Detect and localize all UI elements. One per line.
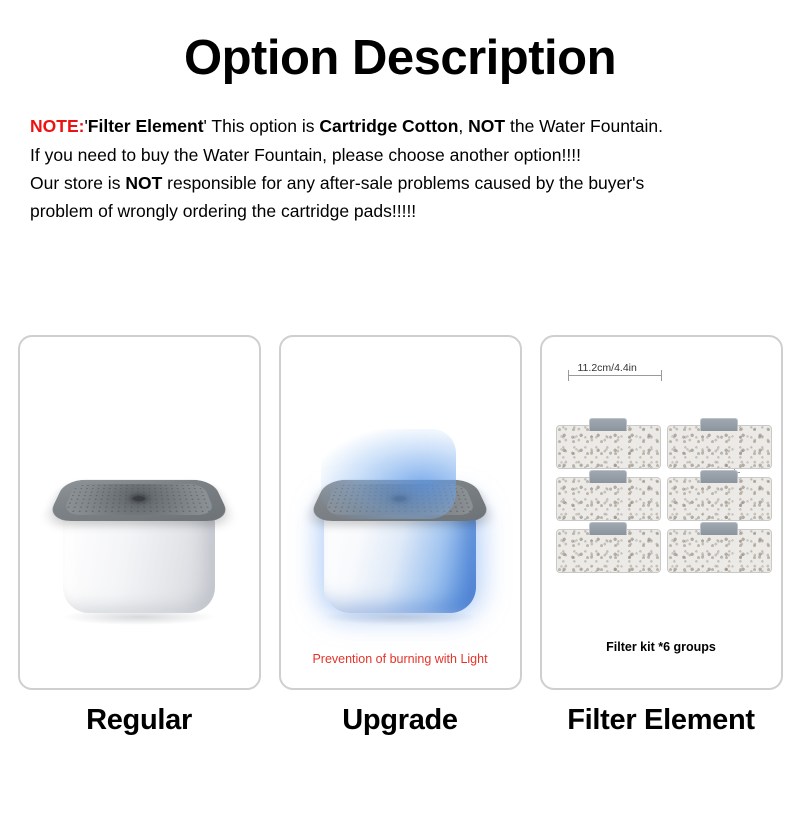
cartridge-pad [667,529,772,573]
cartridge-pad [556,425,661,469]
option-filter-element-image[interactable]: 11.2cm/4.4in 4.3 cm /1.7in Filter kit *6… [540,335,783,690]
cartridge-grid [556,425,770,571]
option-upgrade-sublabel: Prevention of burning with Light [281,652,520,666]
option-regular-caption: Regular [86,704,192,737]
cartridge-item [667,529,770,571]
fountain-lid [46,480,232,521]
cartridge-item [667,477,770,519]
cartridge-tab [589,470,627,483]
cartridge-tab [700,522,738,535]
page-title: Option Description [0,30,800,86]
note-filter-element: Filter Element [88,116,204,136]
center-hole-icon [394,496,406,501]
cartridge-pad [556,477,661,521]
note-label: NOTE: [30,116,84,136]
note-block: NOTE:'Filter Element' This option is Car… [30,112,770,225]
fountain-lid [307,480,493,521]
note-line-4: problem of wrongly ordering the cartridg… [30,197,770,225]
cartridge-pad [556,529,661,573]
note-line-1: NOTE:'Filter Element' This option is Car… [30,112,770,140]
note-text-6: responsible for any after-sale problems … [162,173,644,193]
cartridge-item [556,529,659,571]
width-dimension: 11.2cm/4.4in [562,363,765,387]
center-hole-icon [133,496,145,501]
note-text-5: Our store is [30,173,125,193]
fountain-lid-surface [62,484,216,515]
cartridge-item [556,477,659,519]
note-text-4: the Water Fountain. [505,116,663,136]
note-not-2: NOT [125,173,162,193]
cartridge-item [667,425,770,467]
note-cartridge-cotton: Cartridge Cotton [319,116,458,136]
width-dimension-label: 11.2cm/4.4in [576,362,639,374]
note-text-3: , [458,116,468,136]
option-upgrade-caption: Upgrade [342,704,458,737]
cartridge-pad [667,425,772,469]
note-line-2: If you need to buy the Water Fountain, p… [30,141,770,169]
water-fountain-illustration [49,449,229,619]
options-row: Regular Prevention of burning with Light… [0,335,800,737]
cartridge-item [556,425,659,467]
cartridge-tab [700,418,738,431]
option-regular[interactable]: Regular [14,335,264,737]
note-text-2: ' This option is [204,116,320,136]
cartridge-tab [589,418,627,431]
option-regular-image[interactable] [18,335,261,690]
note-not-1: NOT [468,116,505,136]
fountain-lid-surface [323,484,477,515]
note-line-3: Our store is NOT responsible for any aft… [30,169,770,197]
cartridge-tab [700,470,738,483]
option-upgrade-image[interactable]: Prevention of burning with Light [279,335,522,690]
option-filter-element-caption: Filter Element [567,704,755,737]
filter-kit-label: Filter kit *6 groups [542,640,781,654]
option-upgrade[interactable]: Prevention of burning with Light Upgrade [275,335,525,737]
option-filter-element[interactable]: 11.2cm/4.4in 4.3 cm /1.7in Filter kit *6… [536,335,786,737]
water-fountain-illustration-glow [310,449,490,619]
cartridge-tab [589,522,627,535]
cartridge-pad [667,477,772,521]
filter-kit-illustration: 11.2cm/4.4in 4.3 cm /1.7in Filter kit *6… [542,337,781,688]
width-dimension-line [568,375,662,376]
